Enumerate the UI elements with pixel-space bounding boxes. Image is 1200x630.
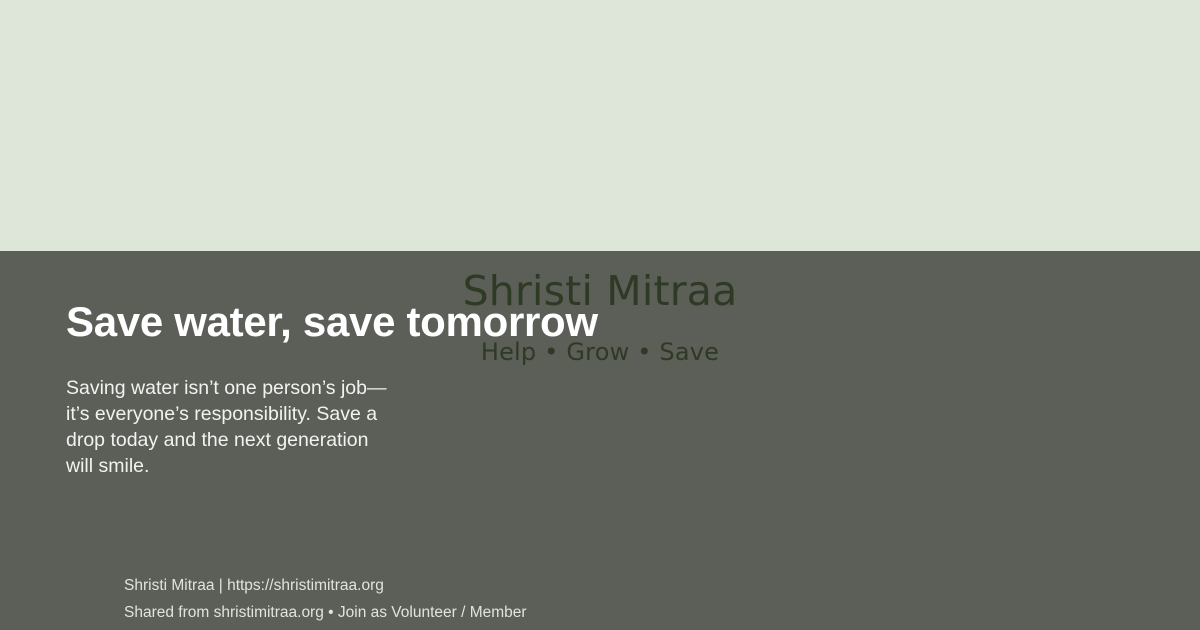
footer-meta: Shristi Mitraa | https://shristimitraa.o… — [124, 572, 527, 626]
body-paragraph: Saving water isn’t one person’s job—it’s… — [66, 343, 396, 479]
footer-share-note: Shared from shristimitraa.org • Join as … — [124, 599, 527, 626]
copy-block: Save water, save tomorrow Saving water i… — [66, 251, 626, 479]
share-card: Shristi Mitraa Help • Grow • Save Save w… — [0, 0, 1200, 630]
page-title: Save water, save tomorrow — [66, 251, 626, 343]
hero-image-band — [0, 0, 1200, 251]
footer-attribution: Shristi Mitraa | https://shristimitraa.o… — [124, 572, 527, 599]
